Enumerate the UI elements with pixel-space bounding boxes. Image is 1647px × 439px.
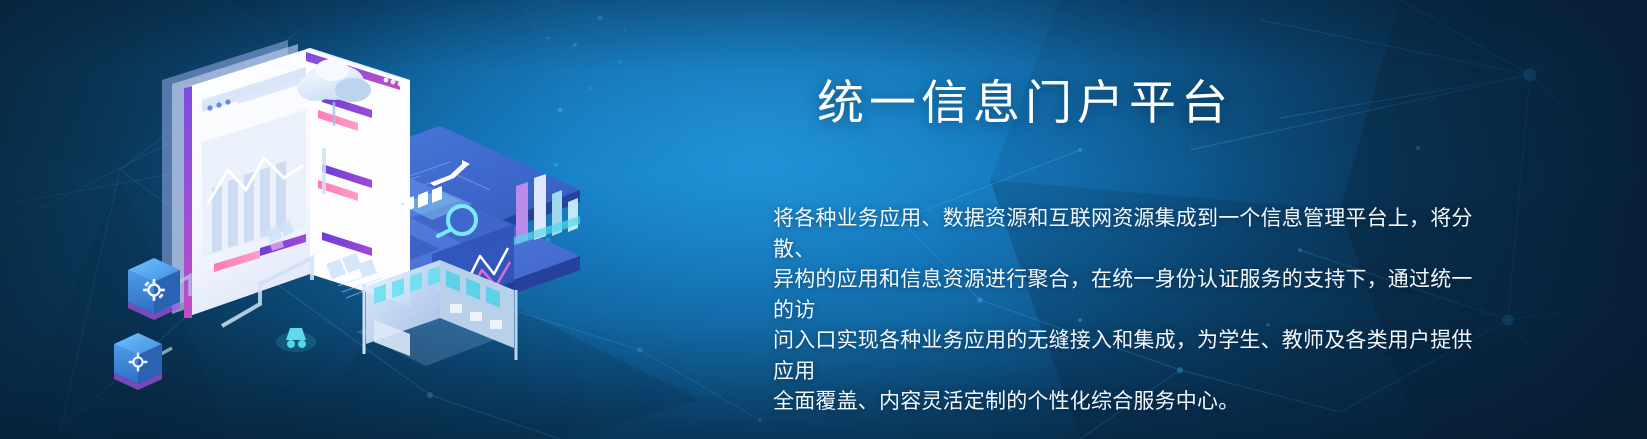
description-line-2: 异构的应用和信息资源进行聚合，在统一身份认证服务的支持下，通过统一的访	[773, 265, 1473, 326]
banner-description: 将各种业务应用、数据资源和互联网资源集成到一个信息管理平台上，将分散、 异构的应…	[773, 204, 1473, 418]
page-title: 统一信息门户平台	[817, 78, 1473, 127]
gear-cube-lower	[114, 333, 162, 390]
glow-node-icon	[276, 328, 316, 352]
hero-banner: 统一信息门户平台 将各种业务应用、数据资源和互联网资源集成到一个信息管理平台上，…	[0, 0, 1647, 439]
isometric-illustration	[110, 18, 580, 418]
description-line-3: 问入口实现各种业务应用的无缝接入和集成，为学生、教师及各类用户提供应用	[773, 326, 1473, 387]
banner-copy: 统一信息门户平台 将各种业务应用、数据资源和互联网资源集成到一个信息管理平台上，…	[773, 78, 1473, 418]
description-line-1: 将各种业务应用、数据资源和互联网资源集成到一个信息管理平台上，将分散、	[773, 204, 1473, 265]
browser-window-chart	[162, 40, 410, 318]
description-line-4: 全面覆盖、内容灵活定制的个性化综合服务中心。	[773, 387, 1473, 418]
gear-cube-upper	[128, 258, 180, 320]
bar-chart-widget	[512, 174, 580, 246]
